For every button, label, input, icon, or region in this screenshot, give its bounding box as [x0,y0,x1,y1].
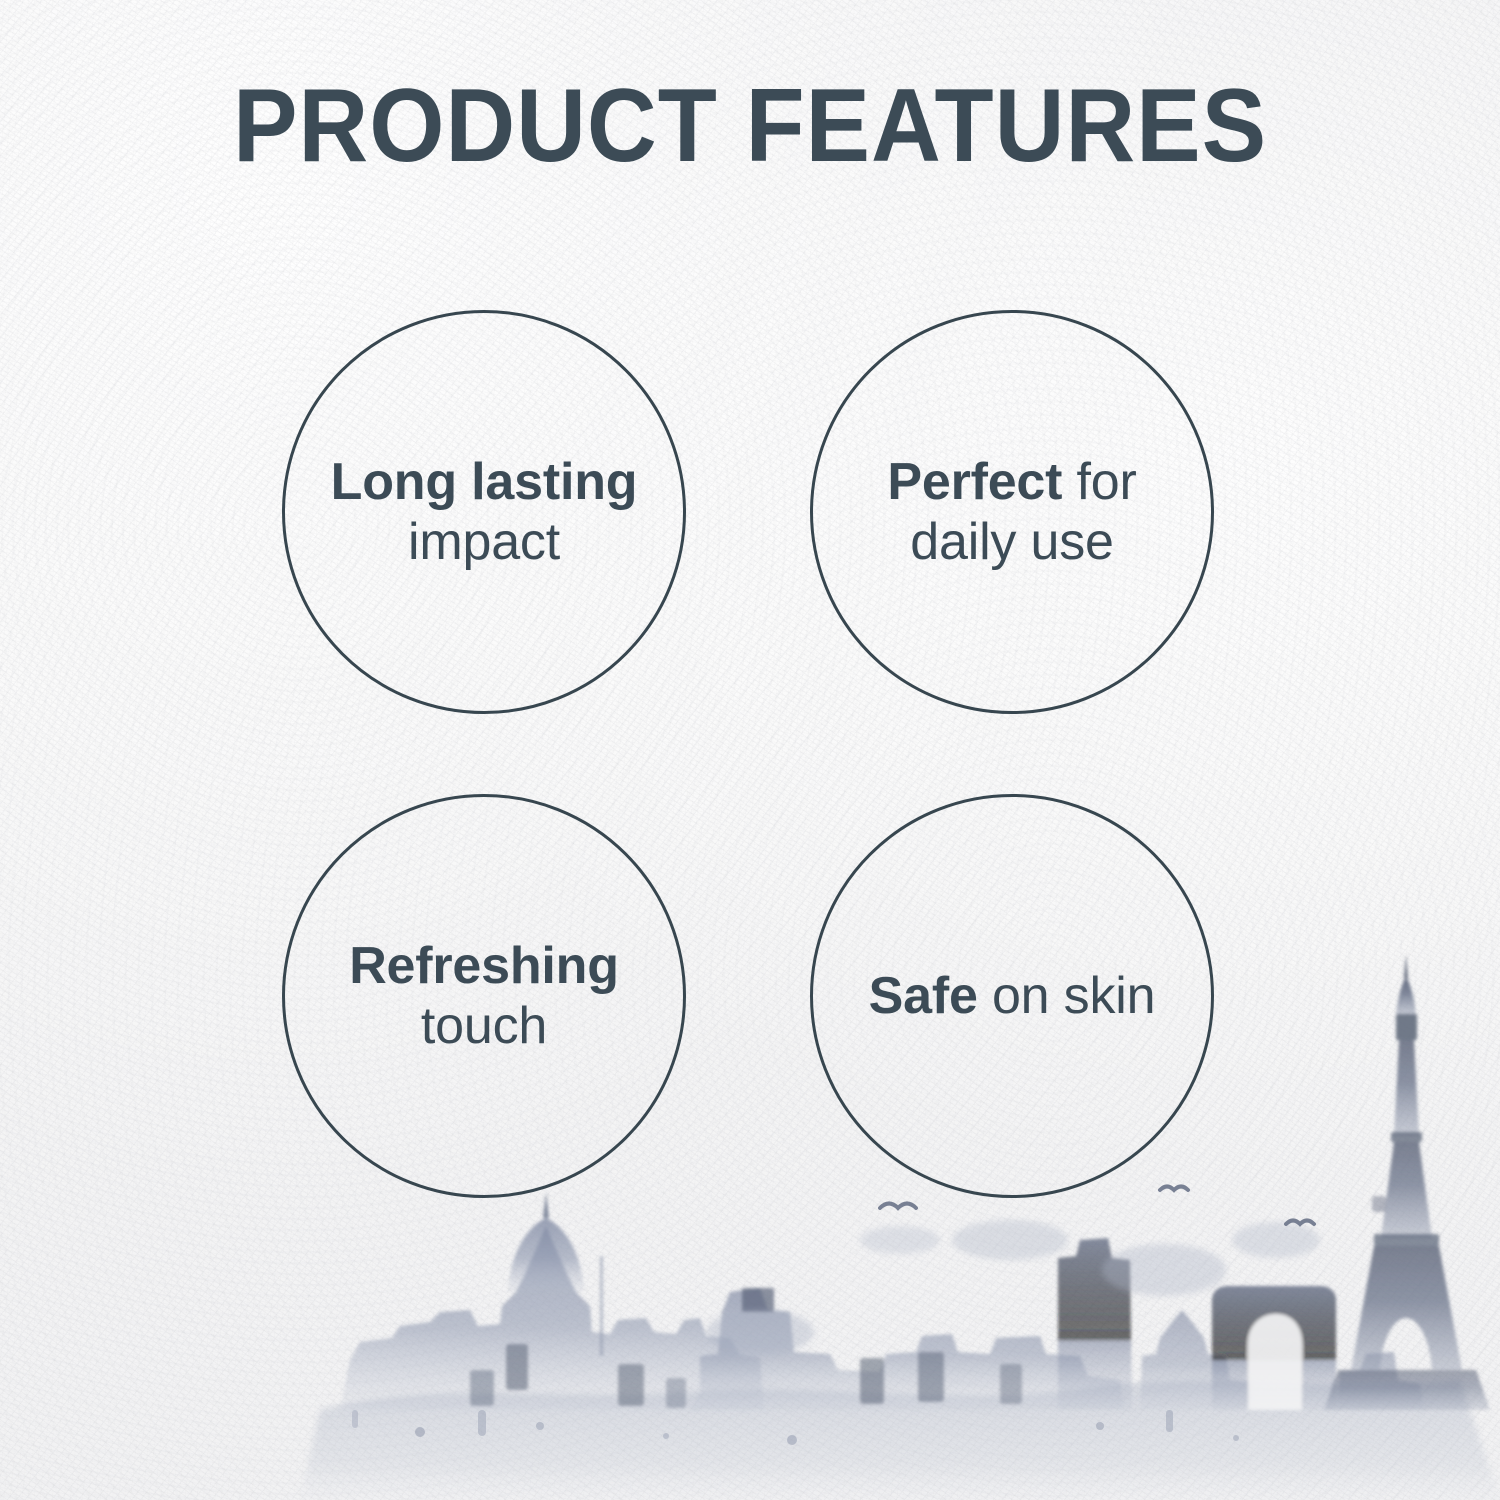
arc-de-triomphe [1212,1286,1336,1410]
feature-label-bold-part: Perfect [887,453,1062,511]
feature-circle-refreshing-touch: Refreshing touch [282,794,686,1198]
poster-canvas: PRODUCT FEATURES Long lasting impact Per… [0,0,1500,1500]
feature-circle-safe-on-skin: Safe on skin [810,794,1214,1198]
skyline-right-cluster [1058,1238,1424,1410]
feature-label-safe-on-skin: Safe on skin [843,966,1182,1026]
feature-label-regular-part: on skin [992,967,1155,1025]
feature-circle-long-lasting-impact: Long lasting impact [282,310,686,714]
feature-circles-grid: Long lasting impact Perfect for daily us… [0,310,1500,1230]
feature-label-bold-part: Safe [869,967,978,1025]
feature-label-bold-part: Refreshing [349,937,619,995]
skyline-ground-wash [300,1380,1500,1500]
feature-label-perfect-for-daily-use: Perfect for daily use [813,452,1211,573]
feature-circle-perfect-for-daily-use: Perfect for daily use [810,310,1214,714]
watercolor-smudges [706,1220,1320,1354]
watercolor-spatter [352,1410,1239,1445]
feature-label-regular-part: impact [408,513,560,571]
feature-label-refreshing-touch: Refreshing touch [285,936,683,1057]
page-title: PRODUCT FEATURES [53,74,1448,178]
skyline-mid-cluster [690,1288,1124,1410]
feature-label-bold-part: Long lasting [331,453,638,511]
feature-label-long-lasting-impact: Long lasting impact [285,452,683,573]
feature-label-regular-part: touch [421,997,547,1055]
